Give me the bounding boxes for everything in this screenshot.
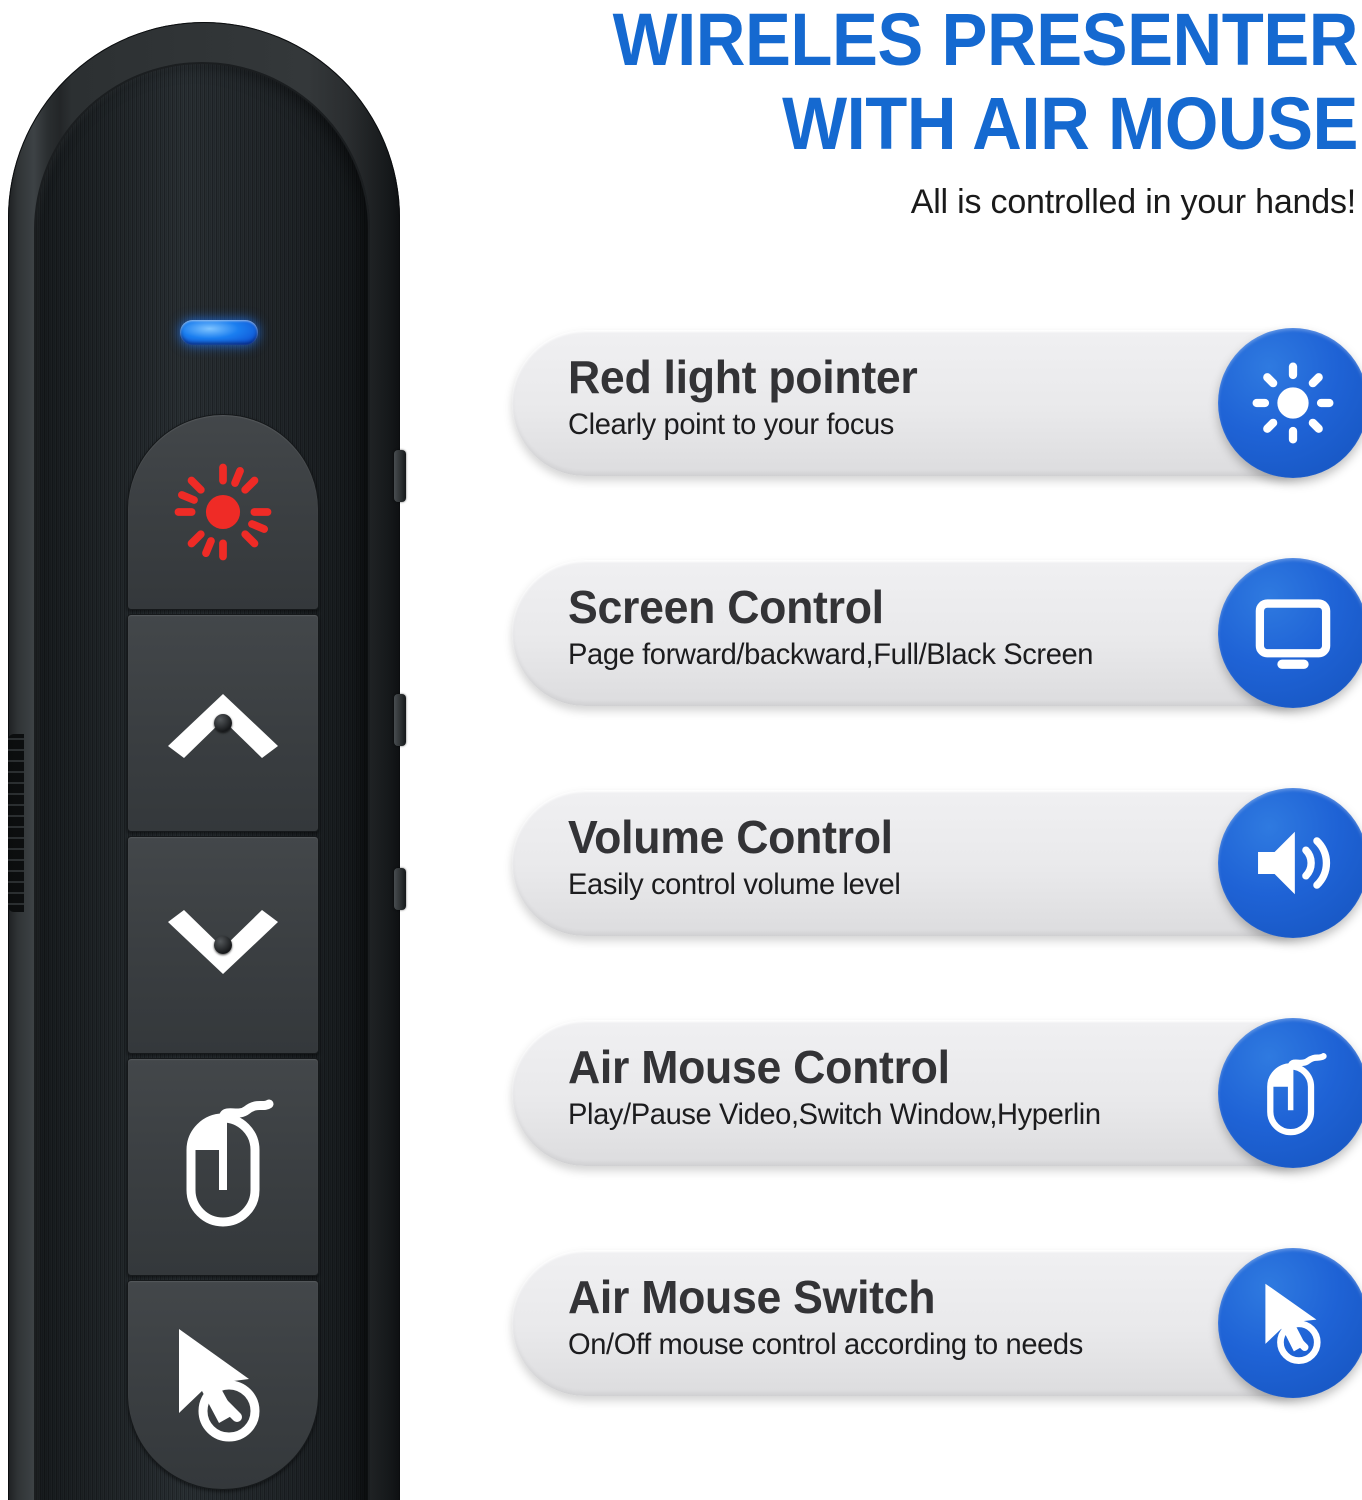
- side-button-upper[interactable]: [394, 450, 406, 502]
- page-up-button[interactable]: [127, 614, 319, 832]
- brightness-sun-icon: [1218, 328, 1362, 478]
- feature-title: Air Mouse Control: [568, 1040, 1247, 1094]
- device-front-plate: [34, 62, 370, 1500]
- presenter-device-image: [0, 0, 430, 1500]
- laser-pointer-button[interactable]: [127, 414, 319, 610]
- product-infographic: WIRELES PRESENTER WITH AIR MOUSE All is …: [0, 0, 1362, 1500]
- cursor-click-icon: [1218, 1248, 1362, 1398]
- content-panel: WIRELES PRESENTER WITH AIR MOUSE All is …: [430, 0, 1362, 1500]
- feature-title: Air Mouse Switch: [568, 1270, 1247, 1324]
- page-down-button[interactable]: [127, 836, 319, 1054]
- side-button-lower[interactable]: [394, 868, 406, 910]
- tactile-nub: [214, 936, 232, 954]
- air-mouse-switch-button[interactable]: [127, 1280, 319, 1490]
- feature-card-volume-control: Volume Control Easily control volume lev…: [512, 790, 1346, 936]
- red-starburst-icon: [168, 457, 278, 567]
- feature-card-text: Red light pointer Clearly point to your …: [568, 350, 1268, 444]
- headline: WIRELES PRESENTER WITH AIR MOUSE: [434, 0, 1358, 166]
- feature-card-screen-control: Screen Control Page forward/backward,Ful…: [512, 560, 1346, 706]
- feature-description: Play/Pause Video,Switch Window,Hyperlin: [568, 1096, 1247, 1134]
- feature-description: Page forward/backward,Full/Black Screen: [568, 636, 1247, 674]
- feature-title: Red light pointer: [568, 350, 1247, 404]
- air-mouse-button[interactable]: [127, 1058, 319, 1276]
- side-button-middle[interactable]: [394, 694, 406, 746]
- feature-card-text: Air Mouse Switch On/Off mouse control ac…: [568, 1270, 1268, 1364]
- device-body: [8, 22, 400, 1500]
- monitor-icon: [1218, 558, 1362, 708]
- blue-led-indicator: [180, 320, 258, 345]
- headline-line-1: WIRELES PRESENTER: [499, 0, 1358, 82]
- headline-line-2: WITH AIR MOUSE: [499, 82, 1358, 166]
- feature-description: Clearly point to your focus: [568, 406, 1247, 444]
- tactile-nub: [214, 714, 232, 732]
- computer-mouse-icon: [1218, 1018, 1362, 1168]
- feature-title: Screen Control: [568, 580, 1247, 634]
- computer-mouse-icon: [159, 1094, 287, 1240]
- feature-description: On/Off mouse control according to needs: [568, 1326, 1247, 1364]
- feature-card-text: Volume Control Easily control volume lev…: [568, 810, 1268, 904]
- feature-card-text: Air Mouse Control Play/Pause Video,Switc…: [568, 1040, 1268, 1134]
- feature-card-air-mouse-switch: Air Mouse Switch On/Off mouse control ac…: [512, 1250, 1346, 1396]
- cursor-click-icon: [157, 1319, 289, 1451]
- feature-card-text: Screen Control Page forward/backward,Ful…: [568, 580, 1268, 674]
- feature-title: Volume Control: [568, 810, 1247, 864]
- ridged-grip-texture: [8, 734, 24, 912]
- subtitle: All is controlled in your hands!: [911, 182, 1356, 222]
- speaker-volume-icon: [1218, 788, 1362, 938]
- feature-card-red-light-pointer: Red light pointer Clearly point to your …: [512, 330, 1346, 476]
- feature-card-air-mouse-control: Air Mouse Control Play/Pause Video,Switc…: [512, 1020, 1346, 1166]
- feature-description: Easily control volume level: [568, 866, 1247, 904]
